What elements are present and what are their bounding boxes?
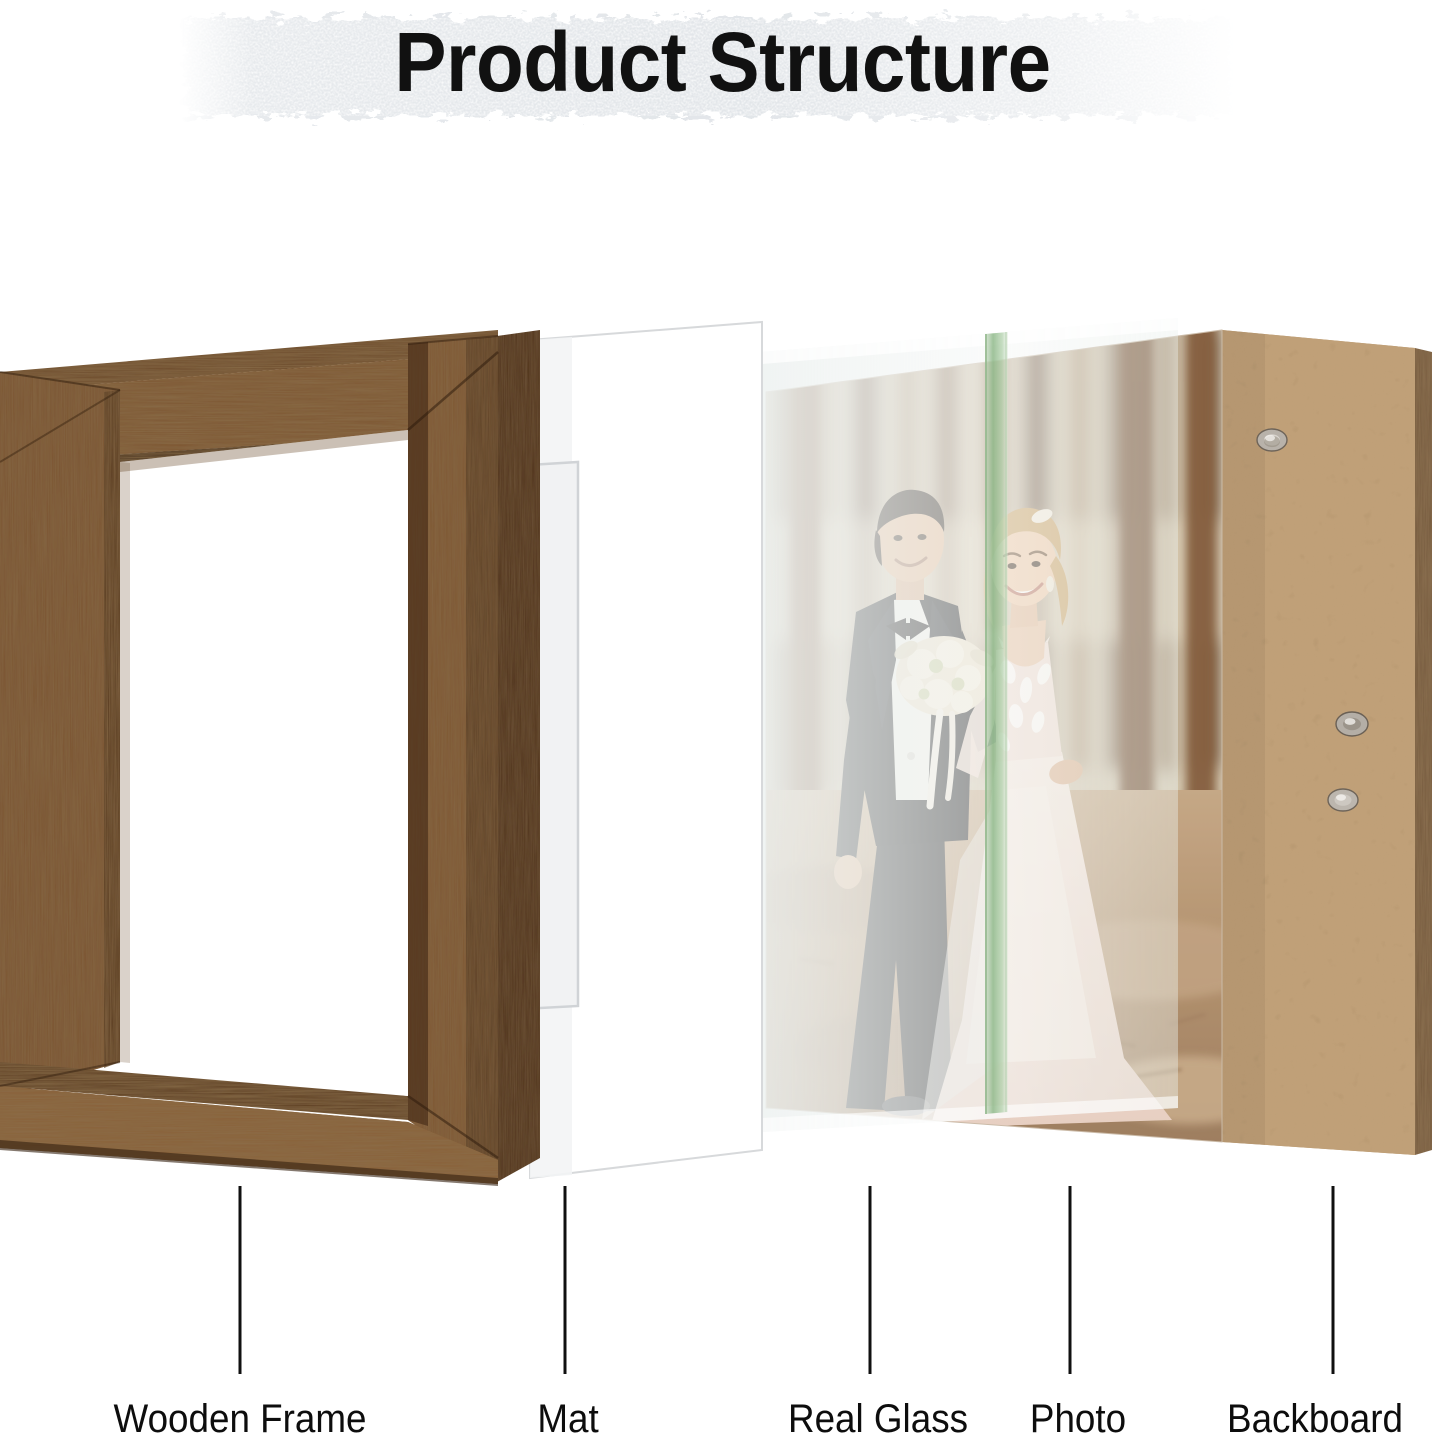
part-label-mat: Mat	[458, 1396, 679, 1442]
backboard-grommet	[1328, 789, 1358, 811]
part-label-backboard: Backboard	[1195, 1396, 1434, 1442]
part-label-photo: Photo	[986, 1396, 1170, 1442]
glass-pane	[762, 318, 1178, 1132]
glass-green-edge	[985, 332, 1008, 1114]
backboard-edge	[1415, 348, 1432, 1155]
layer-real-glass	[762, 318, 1178, 1132]
leader-lines	[240, 1186, 1333, 1374]
layer-backboard	[1222, 330, 1432, 1155]
layer-wooden-frame	[0, 330, 540, 1186]
product-structure-diagram: Wooden Frame Mat Real Glass Photo Backbo…	[0, 0, 1445, 1451]
part-label-wooden-frame: Wooden Frame	[74, 1396, 405, 1442]
frame-right-depth	[497, 330, 540, 1182]
backboard-grommet	[1257, 429, 1287, 451]
exploded-view-svg	[0, 0, 1445, 1451]
frame-opening	[120, 430, 408, 1096]
backboard-grommet	[1336, 712, 1368, 736]
part-label-real-glass: Real Glass	[740, 1396, 1016, 1442]
